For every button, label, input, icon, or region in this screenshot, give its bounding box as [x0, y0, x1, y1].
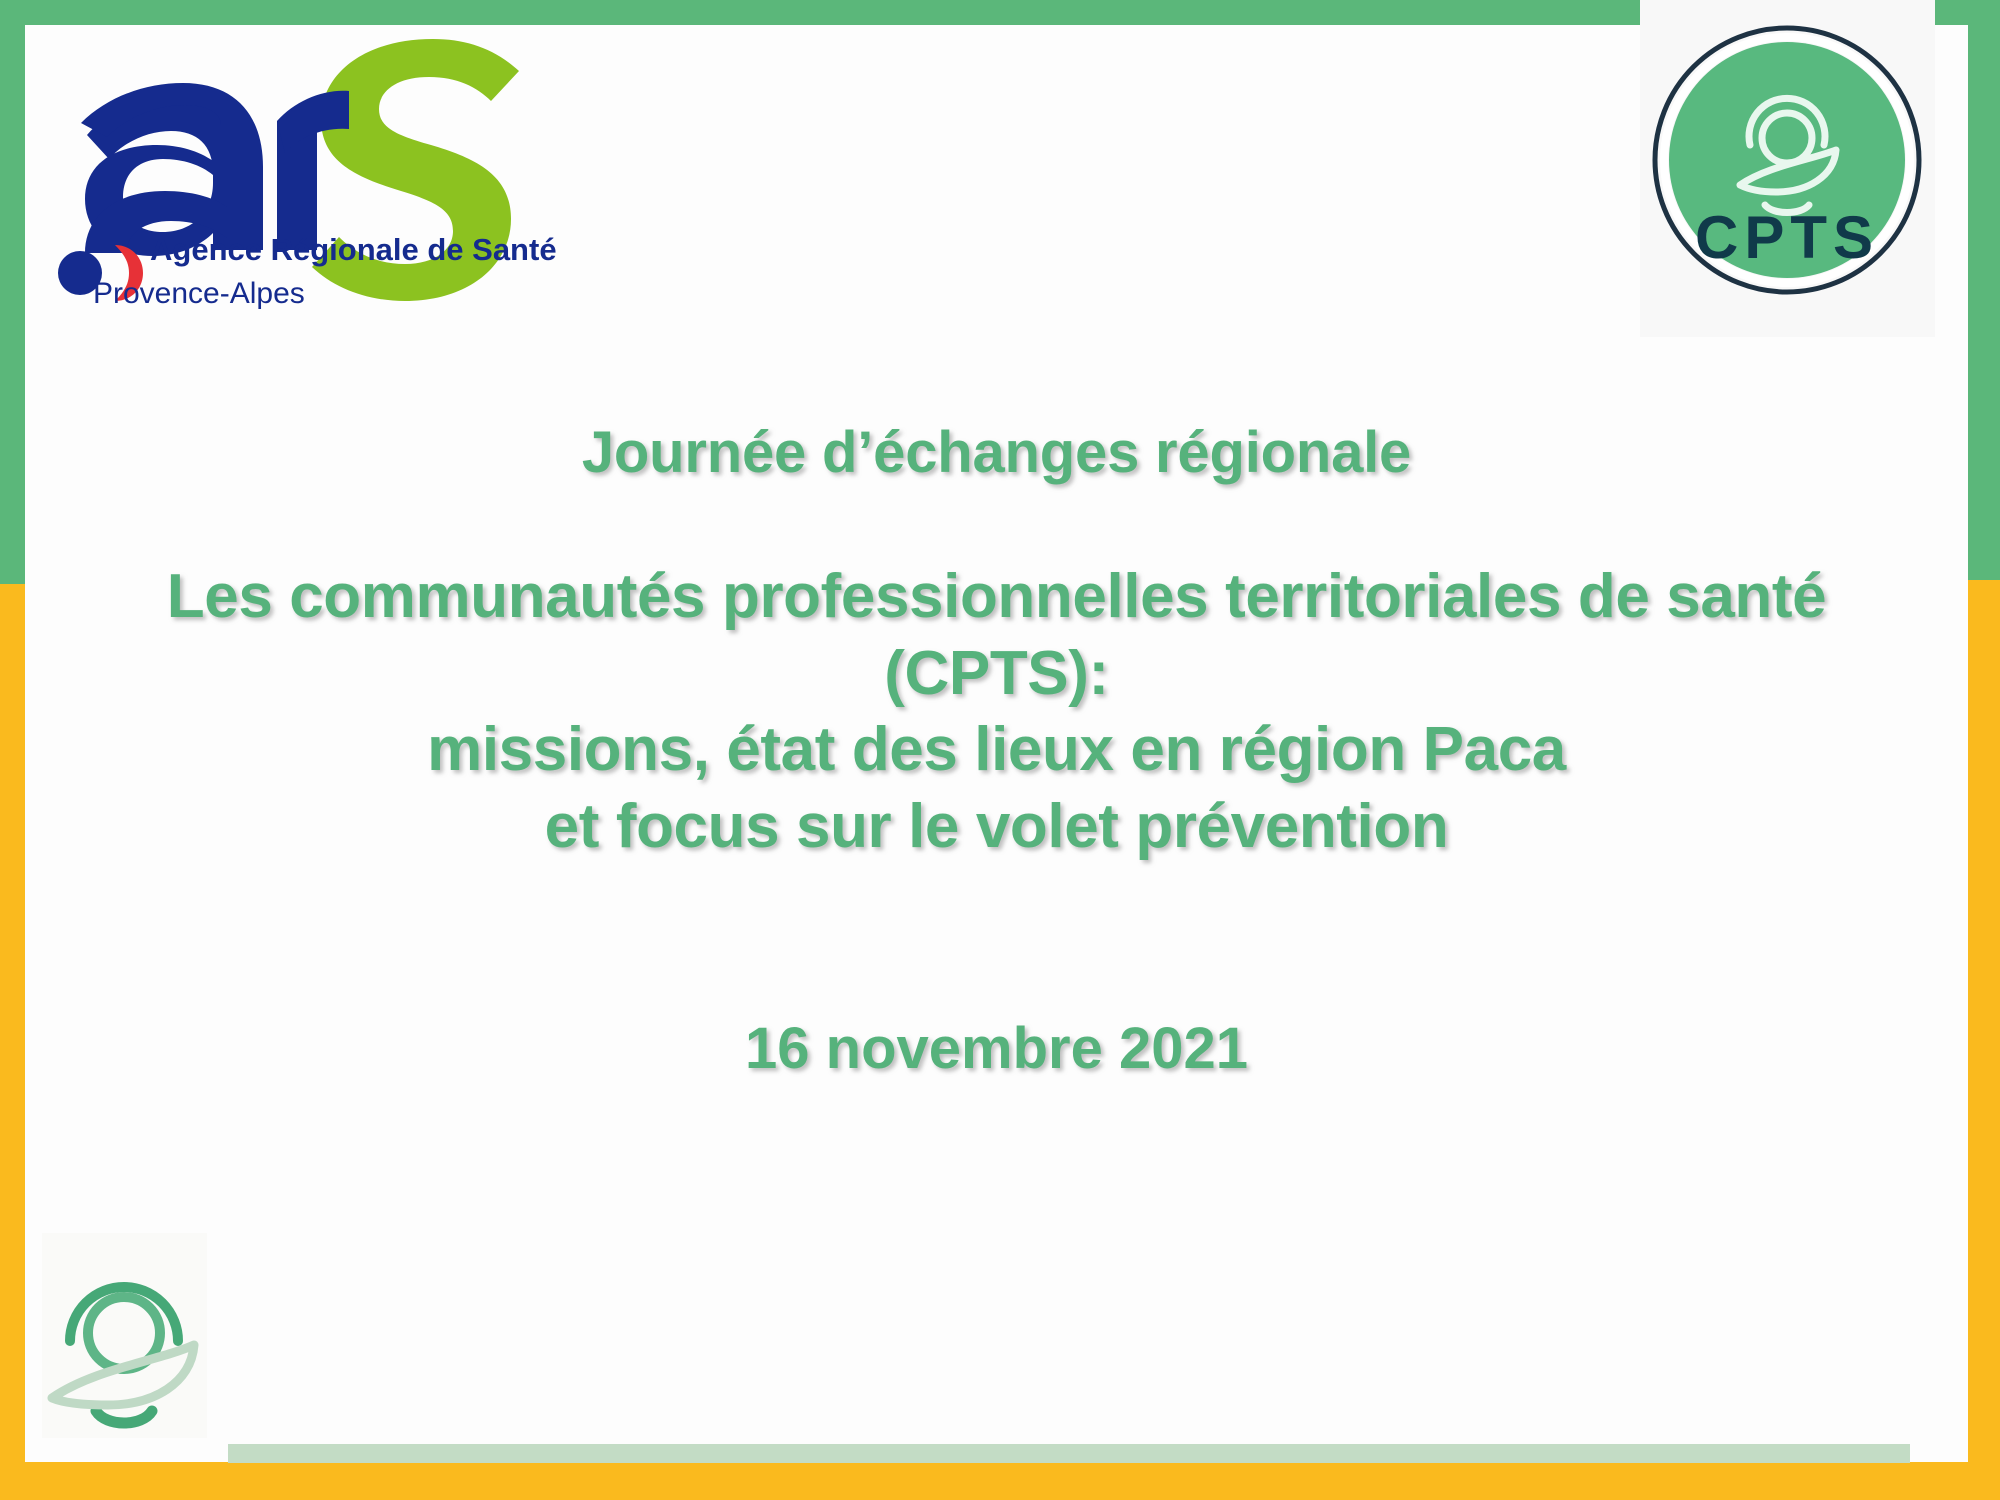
cpts-label: CPTS — [1695, 204, 1879, 271]
frame-border-left-yellow — [0, 584, 25, 1500]
slide-subtitle: Les communautés professionnelles territo… — [25, 559, 1968, 867]
subtitle-line-3: missions, état des lieux en région Paca — [25, 712, 1968, 789]
cpts-logo-badge: CPTS — [1640, 0, 1935, 337]
ars-tagline: Agence Régionale de Santé — [150, 232, 557, 267]
subtitle-line-4: et focus sur le volet prévention — [25, 789, 1968, 866]
ars-logo: Agence Régionale de Santé Provence-Alpes… — [45, 25, 585, 315]
page-title: Journée d’échanges régionale — [25, 420, 1968, 487]
frame-border-bottom — [0, 1462, 2000, 1500]
subtitle-line-2: (CPTS): — [25, 636, 1968, 713]
spacer-above-date — [25, 866, 1968, 1016]
spacer-above-body — [25, 487, 1968, 559]
footer-divider-rule — [228, 1444, 1910, 1463]
frame-border-left-green — [0, 0, 25, 584]
slide-date: 16 novembre 2021 — [25, 1016, 1968, 1083]
ars-region-line-1: Provence-Alpes — [93, 277, 305, 310]
ars-logo-graphic: Agence Régionale de Santé Provence-Alpes… — [45, 25, 585, 315]
footer-cpts-pin-icon — [42, 1233, 207, 1438]
presentation-slide: Agence Régionale de Santé Provence-Alpes… — [0, 0, 2000, 1500]
slide-text-block: Journée d’échanges régionale Les communa… — [25, 420, 1968, 1083]
frame-border-right-yellow — [1968, 580, 2000, 1500]
cpts-logo-graphic: CPTS — [1640, 0, 1935, 337]
footer-pin-graphic — [42, 1233, 207, 1438]
frame-border-right-green — [1968, 0, 2000, 580]
subtitle-line-1: Les communautés professionnelles territo… — [25, 559, 1968, 636]
